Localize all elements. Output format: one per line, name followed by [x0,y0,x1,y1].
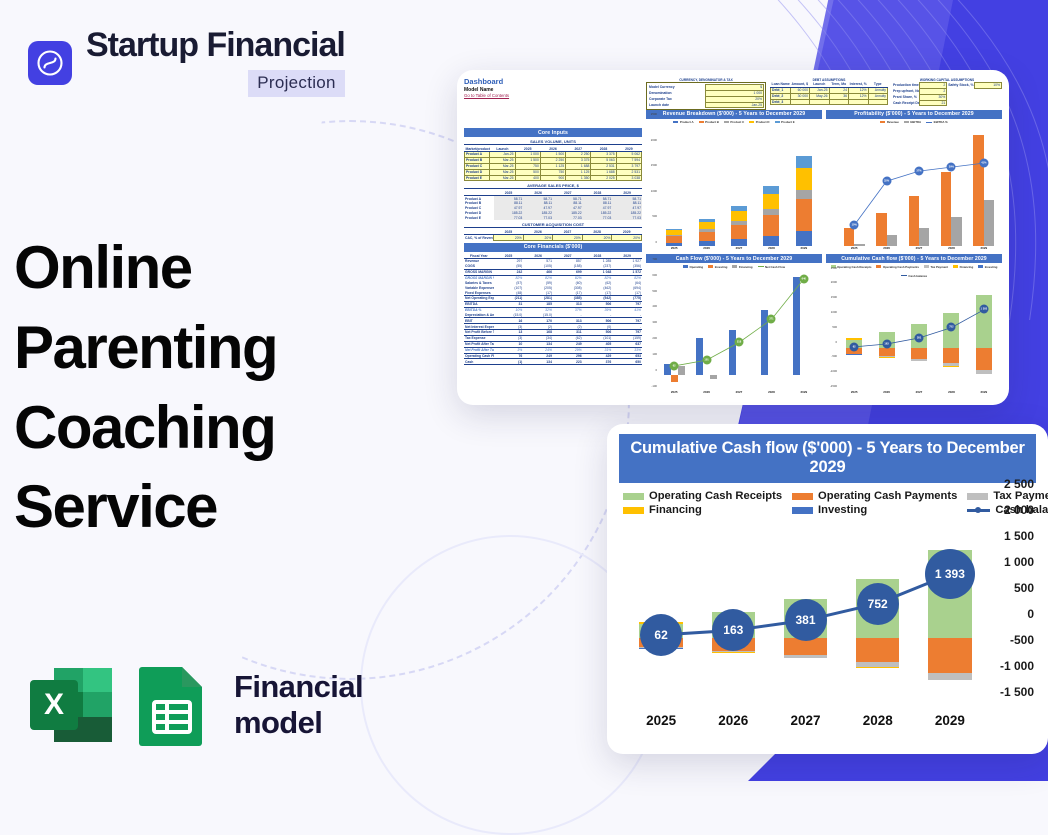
bar-segment [763,209,779,215]
cumulative-cash-flow-plot: 2 5002 0001 5001 0005000-500-1 000-1 500… [619,524,1036,732]
cumulative-cash-flow-chart-mini[interactable]: Cumulative Cash flow ($'000) - 5 Years t… [826,254,1002,397]
table-row: Launch dateJan-25 [648,102,764,108]
data-marker: 752 [947,323,956,332]
revenue-breakdown-chart[interactable]: Revenue Breakdown ($'000) - 5 Years to D… [646,110,822,253]
bar-segment [796,168,812,191]
legend-item: EBITDA % [926,120,948,124]
data-marker: 37% [915,167,924,176]
y-axis-labels: 7006005004003002001000-100 [646,270,658,397]
y-tick-label: 2 000 [1004,503,1034,517]
col-market: Market/product [465,146,490,151]
sheet-right-column: CURRENCY, DENOMINATOR & TAX Model Curren… [646,78,1002,397]
cumulative-cash-flow-legend: Operating Cash Receipts Operating Cash P… [619,483,1036,520]
wc-box-wrap: WORKING CAPITAL ASSUMPTIONS Production t… [892,78,1002,108]
bar-segment [731,211,747,221]
x-tick-label: 2025 [658,390,690,397]
legend-swatch [876,265,881,268]
x-tick-label: 2027 [903,390,935,397]
legend-item: Financing [732,265,752,269]
legend-swatch [775,121,780,124]
data-marker: 62 [850,342,859,351]
x-tick-label: 2029 [968,246,1000,253]
dashboard-preview-card[interactable]: Dashboard Model Name Go to Table of Cont… [457,70,1009,405]
x-tick-label: 2028 [935,390,967,397]
chart-legend: Product AProduct BProduct CProduct DProd… [646,120,822,124]
legend-item: Tax Payment [924,265,948,269]
legend-label: Cash balance [908,274,927,278]
legend-label: Financing [960,265,974,269]
x-tick-label: 2028 [842,713,914,728]
chart-title: Profitability ($'000) - 5 Years to Decem… [826,110,1002,119]
legend-label: Product C [730,120,744,124]
x-tick-label: 2028 [935,246,967,253]
legend-label: Financing [739,265,753,269]
legend-label: EBITDA % [934,120,948,124]
x-tick-label: 2026 [870,390,902,397]
legend-line [926,122,932,123]
legend-label: Investing [985,265,998,269]
bar-segment [796,231,812,245]
y-tick-label: -1 500 [1000,685,1034,699]
avg-price-table: 2025 2026 2027 2028 2029 Product A58.715… [464,190,642,220]
legend-swatch [978,265,983,268]
chart-title: Revenue Breakdown ($'000) - 5 Years to D… [646,110,822,119]
x-axis-labels: 20252026202720282029 [658,246,820,253]
legend-line [967,509,990,512]
debt-box-wrap: DEBT ASSUMPTIONS Loan NameAmount, $Launc… [770,78,888,108]
data-marker: 39% [947,163,956,172]
data-marker: 1 393 [979,305,988,314]
core-financials-table: Fiscal Year20252026202720282029Revenue29… [464,253,642,365]
cumulative-cash-flow-card[interactable]: Cumulative Cash flow ($'000) - 5 Years t… [607,424,1048,754]
legend-label: Tax Payment [993,490,1048,502]
svg-text:X: X [44,688,64,721]
footer-label: Financial model [234,669,440,741]
dashboard-heading-block: Dashboard Model Name Go to Table of Cont… [464,78,642,99]
legend-label: EBITDA [910,120,921,124]
x-tick-label: 2025 [658,246,690,253]
trend-line [838,125,1000,245]
brand-lockup: Startup Financial Projection [28,28,345,97]
x-tick-label: 2026 [870,246,902,253]
chart-legend: OperatingInvestingFinancingNet Cash Flow [646,265,822,269]
data-marker: 381 [915,333,924,342]
data-point-marker: 62 [640,614,682,656]
bar-segment [731,206,747,211]
plot-area: 621633817521 393 [625,524,986,706]
y-tick-label: -500 [1010,633,1034,647]
legend-item: Product C [724,120,744,124]
bar-segment [763,194,779,209]
left-content-column: Startup Financial Projection Online Pare… [0,0,440,781]
chart-title: Cumulative Cash flow ($'000) - 5 Years t… [826,254,1002,263]
bar-segment [666,230,682,234]
bar-segment [666,235,682,237]
legend-item-financing: Financing [623,504,782,516]
plot-area: 62101218371640 [658,270,820,390]
data-marker: 101 [702,355,711,364]
cumulative-cash-flow-title: Cumulative Cash flow ($'000) - 5 Years t… [619,434,1036,483]
bar-segment [763,186,779,194]
x-tick-label: 2025 [625,713,697,728]
legend-label: Product B [705,120,719,124]
currency-box: Model Currency$Denomination1 000Corporat… [646,82,766,110]
x-tick-label: 2025 [838,390,870,397]
legend-item: Revenue [880,120,899,124]
table-row: Cash(1)134223376650 [464,359,642,365]
data-marker: 218 [735,338,744,347]
x-axis-labels: 20252026202720282029 [625,708,986,732]
legend-item: Cash balance [901,274,927,278]
x-tick-label: 2029 [968,390,1000,397]
y-tick-label: 0 [1027,607,1034,621]
working-capital-table: Production time, No2Safety Stock, %10%Pr… [892,82,1002,106]
table-row: CAC, % of Revenue20%20%20%20%20% [464,235,642,241]
plot-area: 621633817521 393 [838,279,1000,390]
chart-legend: RevenueEBITDAEBITDA % [826,120,1002,124]
legend-label: Product A [680,120,694,124]
legend-item-operating-cash-payments: Operating Cash Payments [792,490,957,502]
plot-area [658,125,820,245]
y-tick-label: 500 [1014,581,1034,595]
legend-item: Product D [749,120,769,124]
x-tick-label: 2029 [788,246,820,253]
data-marker: 41% [979,159,988,168]
spiral-logo-icon [28,41,72,85]
data-marker: 32% [882,177,891,186]
legend-line [758,266,764,267]
bar-segment [699,232,715,242]
x-tick-label: 2026 [690,390,722,397]
legend-item: Product A [673,120,693,124]
legend-swatch [880,121,885,124]
chart-legend: Operating Cash ReceiptsOperating Cash Pa… [826,265,1002,278]
x-axis-labels: 20252026202720282029 [838,390,1000,397]
google-sheets-icon [136,664,208,746]
x-tick-label: 2029 [788,390,820,397]
legend-swatch [724,121,729,124]
legend-item-operating-cash-receipts: Operating Cash Receipts [623,490,782,502]
bar-segment [731,221,747,225]
dashboard-title: Dashboard [464,78,642,87]
legend-swatch [732,265,737,268]
trend-line [658,270,820,390]
x-tick-label: 2026 [690,246,722,253]
legend-label: Operating Cash Payments [883,265,919,269]
legend-item: EBITDA [904,120,921,124]
legend-item: Product E [775,120,795,124]
legend-label: Net Cash Flow [765,265,785,269]
legend-swatch [683,265,688,268]
legend-label: Product D [756,120,770,124]
data-marker: 10% [850,221,859,230]
bar-segment [699,222,715,229]
legend-swatch [699,121,704,124]
data-marker: 640 [799,274,808,283]
legend-label: Revenue [887,120,899,124]
legend-item: Financing [953,265,973,269]
data-marker: 371 [767,315,776,324]
legend-label: Operating [690,265,704,269]
legend-swatch [953,265,958,268]
data-point-marker: 752 [857,583,899,625]
cash-flow-chart[interactable]: Cash Flow ($'000) - 5 Years to December … [646,254,822,397]
legend-item: Operating Cash Payments [876,265,918,269]
debt-table: Loan NameAmount, $LaunchTerm, MoInterest… [770,82,888,105]
legend-item-tax-payment: Tax Payment [967,490,1048,502]
footer-badges: X Financial model [28,664,440,746]
chart-title: Cash Flow ($'000) - 5 Years to December … [646,254,822,263]
table-row: Debt_3 [771,99,888,105]
y-axis-labels: 25002000150010005000 [646,125,658,252]
x-tick-label: 2025 [838,246,870,253]
legend-item-investing: Investing [792,504,957,516]
legend-swatch [967,493,988,500]
x-tick-label: 2027 [903,246,935,253]
x-axis-labels: 20252026202720282029 [658,390,820,397]
legend-swatch [708,265,713,268]
cac-band: CUSTOMER ACQUISITION COST [464,222,642,228]
data-marker: 163 [882,339,891,348]
bar-segment [763,215,779,236]
legend-label: Financing [649,504,702,516]
y-tick-label: 1 000 [1004,555,1034,569]
legend-label: Tax Payment [930,265,948,269]
legend-item: Investing [978,265,997,269]
legend-swatch [673,121,678,124]
bar-segment [699,229,715,232]
y-tick-label: 2 500 [1004,477,1034,491]
x-axis-labels: 20252026202720282029 [838,246,1000,253]
x-tick-label: 2027 [723,246,755,253]
bar-segment [666,229,682,230]
y-tick-label: 1 500 [1004,529,1034,543]
table-row: Cash Receipt Days21 [892,100,1002,106]
legend-label: Operating Cash Receipts [837,265,871,269]
legend-label: Operating Cash Receipts [649,490,782,502]
legend-label: Product E [781,120,795,124]
bar-segment [666,236,682,242]
legend-swatch [792,493,813,500]
sales-volume-table: Market/product Launch 2025 2026 2027 202… [464,146,642,181]
table-row: Product E77.0377.0377.0377.0377.03 [464,216,642,221]
x-tick-label: 2026 [697,713,769,728]
plot-area: 10%32%37%39%41% [838,125,1000,245]
bar-segment [796,190,812,199]
y-axis-labels: 25002000150010005000-500-1000-1500 [826,279,838,397]
spreadsheet-dashboard: Dashboard Model Name Go to Table of Cont… [464,78,1002,397]
brand-title: Startup Financial [86,28,345,62]
legend-swatch [623,507,644,514]
brand-subtitle: Projection [248,70,345,97]
avg-price-band: AVERAGE SALES PRICE, $ [464,183,642,189]
legend-swatch [749,121,754,124]
data-point-marker: 1 393 [925,549,975,599]
y-axis-labels [826,125,838,252]
legend-label: Investing [818,504,867,516]
data-point-marker: 381 [785,599,827,641]
legend-line [901,275,907,276]
legend-item: Operating [683,265,703,269]
bar-segment [763,236,779,246]
profitability-chart[interactable]: Profitability ($'000) - 5 Years to Decem… [826,110,1002,253]
legend-swatch [623,493,644,500]
toc-link[interactable]: Go to Table of Contents [464,93,642,99]
legend-swatch [904,121,909,124]
legend-label: Investing [715,265,728,269]
bar-segment [731,225,747,239]
x-tick-label: 2027 [769,713,841,728]
core-financials-band: Core Financials ($'000) [464,243,642,252]
bar-segment [796,156,812,167]
bar-segment [699,219,715,222]
currency-box-wrap: CURRENCY, DENOMINATOR & TAX Model Curren… [646,78,766,108]
legend-item: Investing [708,265,727,269]
data-point-marker: 163 [712,609,754,651]
core-inputs-band: Core Inputs [464,128,642,137]
legend-swatch [924,265,929,268]
legend-item: Product B [699,120,719,124]
microsoft-excel-icon: X [28,664,116,746]
data-marker: 62 [670,361,679,370]
table-row: Product EMar-254009001 3502 0253 038 [465,175,642,181]
legend-item: Net Cash Flow [758,265,785,269]
legend-swatch [792,507,813,514]
x-tick-label: 2028 [755,246,787,253]
x-tick-label: 2028 [755,390,787,397]
sheet-left-column: Dashboard Model Name Go to Table of Cont… [464,78,642,397]
y-tick-label: -1 000 [1000,659,1034,673]
x-tick-label: 2027 [723,390,755,397]
sales-volume-band: SALES VOLUME, UNITS [464,139,642,145]
page-title: Online Parenting Coaching Service [14,228,414,547]
cac-table: 2025 2026 2027 2028 2029 CAC, % of Reven… [464,229,642,241]
bar-segment [796,199,812,231]
y-axis-labels: 2 5002 0001 5001 0005000-500-1 000-1 500 [988,524,1036,732]
x-tick-label: 2029 [914,713,986,728]
legend-label: Operating Cash Payments [818,490,957,502]
